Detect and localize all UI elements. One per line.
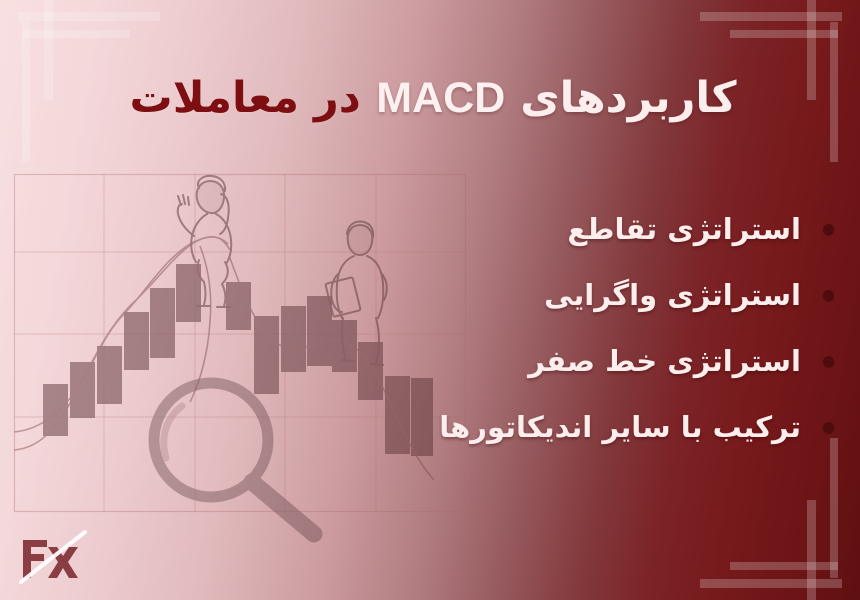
bullet-dot-icon bbox=[823, 422, 834, 433]
list-item: استراتژی تقاطع bbox=[364, 196, 834, 262]
list-item-label: استراتژی خط صفر bbox=[528, 344, 801, 378]
strategy-bullet-list: استراتژی تقاطع استراتژی واگرایی استراتژی… bbox=[364, 196, 834, 460]
title-part-dark: در معاملات bbox=[129, 73, 360, 123]
list-item-label: ترکیب با سایر اندیکاتورها bbox=[439, 410, 801, 444]
page-title: کاربردهای MACD در معاملات bbox=[0, 74, 860, 123]
list-item-label: استراتژی تقاطع bbox=[567, 212, 801, 246]
fx-brand-logo bbox=[17, 530, 93, 584]
list-item: استراتژی واگرایی bbox=[364, 262, 834, 328]
list-item-label: استراتژی واگرایی bbox=[544, 278, 801, 312]
title-part-light: کاربردهای bbox=[520, 73, 736, 123]
title-part-macd: MACD bbox=[376, 74, 505, 122]
poster-canvas: کاربردهای MACD در معاملات استراتژی تقاطع… bbox=[0, 0, 860, 600]
list-item: ترکیب با سایر اندیکاتورها bbox=[364, 394, 834, 460]
bullet-dot-icon bbox=[823, 290, 834, 301]
bullet-dot-icon bbox=[823, 224, 834, 235]
bullet-dot-icon bbox=[823, 356, 834, 367]
list-item: استراتژی خط صفر bbox=[364, 328, 834, 394]
